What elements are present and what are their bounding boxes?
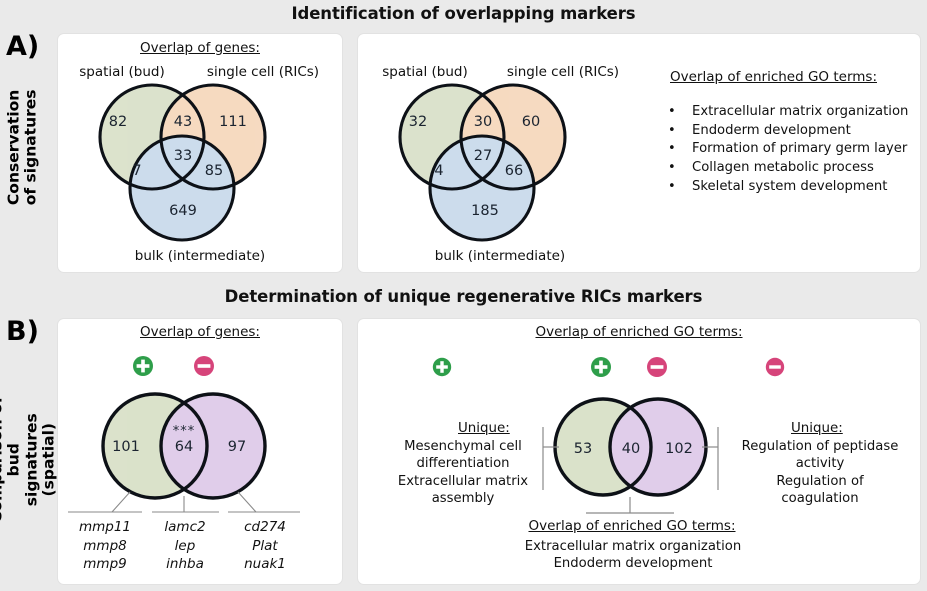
panel-a-right-venn-BC: 66 — [496, 163, 532, 179]
panel-a-right-set-label-singlecell: single cell (RICs) — [490, 64, 636, 80]
panel-b-gene-column-left: mmp11 mmp8 mmp9 — [68, 518, 142, 574]
panel-a-left-venn-BC: 85 — [196, 163, 232, 179]
minus-circle-icon — [646, 356, 668, 378]
panel-a-right-venn-C-only: 185 — [462, 203, 508, 219]
plus-circle-icon — [432, 357, 452, 377]
panel-b-left-venn-AB: 64 — [163, 439, 205, 455]
panel-a-left-venn-ABC: 33 — [165, 148, 201, 164]
go-list-item: • Endoderm development — [668, 122, 918, 141]
panel-b-right-unique-terms: Regulation of peptidase activity Regulat… — [730, 438, 910, 508]
go-term-label: Extracellular matrix organization — [692, 103, 908, 122]
panel-a-go-heading: Overlap of enriched GO terms: — [670, 69, 920, 85]
panel-b-right-venn-AB: 40 — [610, 441, 652, 457]
panel-a-right-set-label-bulk: bulk (intermediate) — [410, 248, 590, 264]
go-term-label: Collagen metabolic process — [692, 159, 874, 178]
panel-letter-a: A) — [6, 33, 39, 60]
go-list-item: • Collagen metabolic process — [668, 159, 918, 178]
panel-b-right-heading: Overlap of enriched GO terms: — [357, 324, 921, 340]
panel-a-left-venn-A-only: 82 — [100, 114, 136, 130]
panel-b-left-heading: Overlap of genes: — [57, 324, 343, 340]
plus-circle-icon — [132, 355, 154, 377]
panel-b-left-unique-heading: Unique: — [458, 421, 510, 436]
panel-b-left-significance: *** — [163, 424, 205, 439]
panel-b-gene-column-overlap: lamc2 lep inhba — [150, 518, 220, 574]
panel-a-right-set-label-spatial: spatial (bud) — [365, 64, 485, 80]
panel-a-right-venn-B-only: 60 — [513, 114, 549, 130]
panel-b-overlap-heading: Overlap of enriched GO terms: — [508, 518, 756, 534]
go-term-label: Endoderm development — [692, 122, 851, 141]
panel-b-side-label: Comparison of bud signatures (spatial) — [0, 380, 58, 540]
bullet-icon: • — [668, 103, 692, 121]
go-list-item: • Skeletal system development — [668, 178, 918, 197]
panel-a-right-venn-AC: 4 — [424, 163, 454, 179]
panel-b-left-venn-B-only: 97 — [217, 439, 257, 455]
panel-b-gene-column-right: cd274 Plat nuak1 — [228, 518, 302, 574]
section-title-b: Determination of unique regenerative RIC… — [0, 287, 927, 306]
panel-a-left-heading: Overlap of genes: — [57, 40, 343, 56]
panel-letter-b: B) — [6, 318, 39, 345]
panel-a-left-venn-B-only: 111 — [213, 114, 253, 130]
panel-a-side-label: Conservation of signatures — [6, 72, 41, 222]
section-title-a: Identification of overlapping markers — [0, 4, 927, 23]
bullet-icon: • — [668, 140, 692, 158]
panel-a-left-set-label-bulk: bulk (intermediate) — [110, 248, 290, 264]
minus-circle-icon — [765, 357, 785, 377]
panel-b-right-venn-B-only: 102 — [657, 441, 701, 457]
bullet-icon: • — [668, 159, 692, 177]
panel-b-right-unique-heading: Unique: — [791, 421, 843, 436]
panel-b-overlap-terms: Extracellular matrix organization Endode… — [488, 538, 778, 573]
figure-root: Identification of overlapping markers De… — [0, 0, 927, 591]
panel-a-left-set-label-singlecell: single cell (RICs) — [190, 64, 336, 80]
go-list-item: • Formation of primary germ layer — [668, 140, 918, 159]
bullet-icon: • — [668, 122, 692, 140]
bullet-icon: • — [668, 178, 692, 196]
panel-a-go-list: • Extracellular matrix organization • En… — [668, 103, 918, 197]
minus-circle-icon — [193, 355, 215, 377]
panel-a-right-venn-ABC: 27 — [465, 148, 501, 164]
go-term-label: Formation of primary germ layer — [692, 140, 907, 159]
panel-a-left-venn-C-only: 649 — [160, 203, 206, 219]
panel-a-right-venn-A-only: 32 — [400, 114, 436, 130]
go-list-item: • Extracellular matrix organization — [668, 103, 918, 122]
panel-b-left-unique-terms: Mesenchymal cell differentiation Extrace… — [388, 438, 538, 508]
panel-b-left-venn-A-only: 101 — [104, 439, 148, 455]
panel-a-left-venn-AB: 43 — [165, 114, 201, 130]
panel-a-right-venn-AB: 30 — [465, 114, 501, 130]
plus-circle-icon — [590, 356, 612, 378]
panel-a-left-venn-AC: 7 — [122, 163, 152, 179]
panel-b-right-venn-A-only: 53 — [562, 441, 604, 457]
panel-a-left-set-label-spatial: spatial (bud) — [62, 64, 182, 80]
go-term-label: Skeletal system development — [692, 178, 887, 197]
